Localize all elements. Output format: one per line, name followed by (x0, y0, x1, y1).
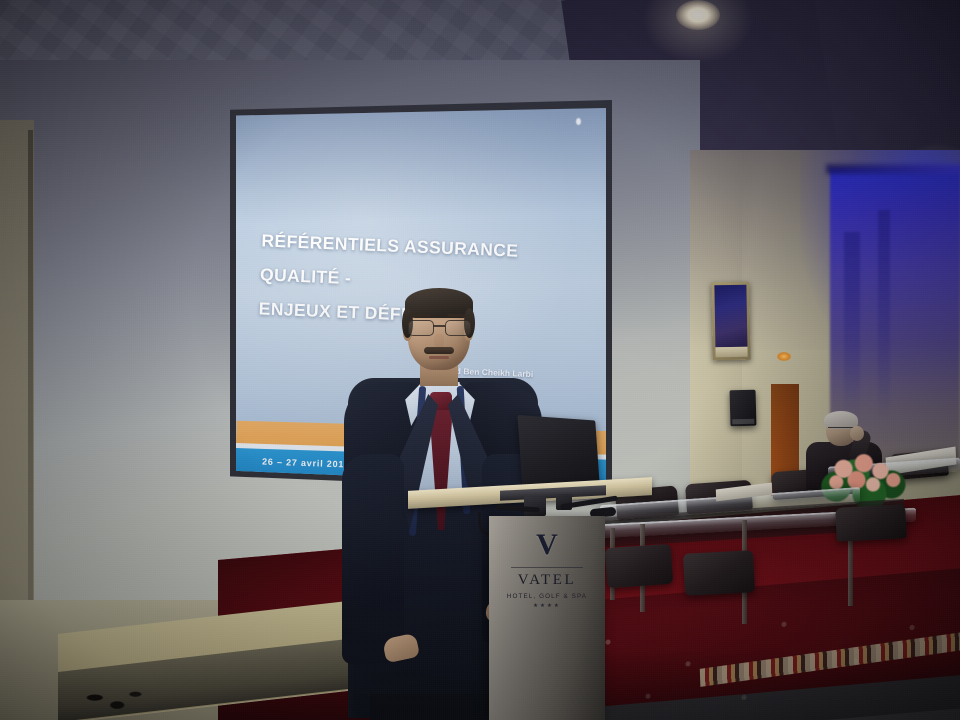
vatel-tagline: HOTEL, GOLF & SPA (503, 593, 591, 600)
glasses-lens-left (408, 320, 434, 336)
artwork-canvas (714, 285, 747, 347)
presenter-eyebrow (409, 314, 431, 317)
vatel-logo-rule (511, 567, 583, 568)
cove-light-strip (826, 164, 960, 174)
presenter-mouth (429, 356, 449, 359)
recessed-downlight-icon (676, 0, 720, 30)
chair (835, 504, 907, 542)
wall-speaker-icon (730, 390, 757, 427)
vatel-brand-name: VATEL (503, 572, 591, 589)
presenter-eyebrow (447, 314, 469, 317)
presenter-nose (434, 334, 444, 348)
framed-artwork (711, 282, 750, 361)
chair (605, 544, 674, 589)
presenter-arm-left (342, 454, 404, 664)
conference-photo-scene: RÉFÉRENTIELS ASSURANCE QUALITÉ - ENJEUX … (0, 0, 960, 720)
vatel-star-rating: ★★★★ (503, 603, 591, 609)
wall-rib (878, 210, 890, 420)
chair (683, 550, 755, 596)
artwork-plate (715, 347, 747, 358)
wall-rib (844, 232, 860, 422)
glasses-bridge (433, 325, 445, 327)
vatel-logo: V VATEL HOTEL, GOLF & SPA ★★★★ (503, 530, 591, 609)
vatel-logo-mark: V (503, 530, 591, 560)
attendee-hand (850, 426, 864, 441)
amber-wall-light-icon (777, 352, 791, 361)
glasses-lens-right (445, 320, 471, 336)
floor-cables (78, 684, 148, 718)
presenter-mustache (424, 347, 454, 354)
screen-hotspot (576, 118, 581, 125)
